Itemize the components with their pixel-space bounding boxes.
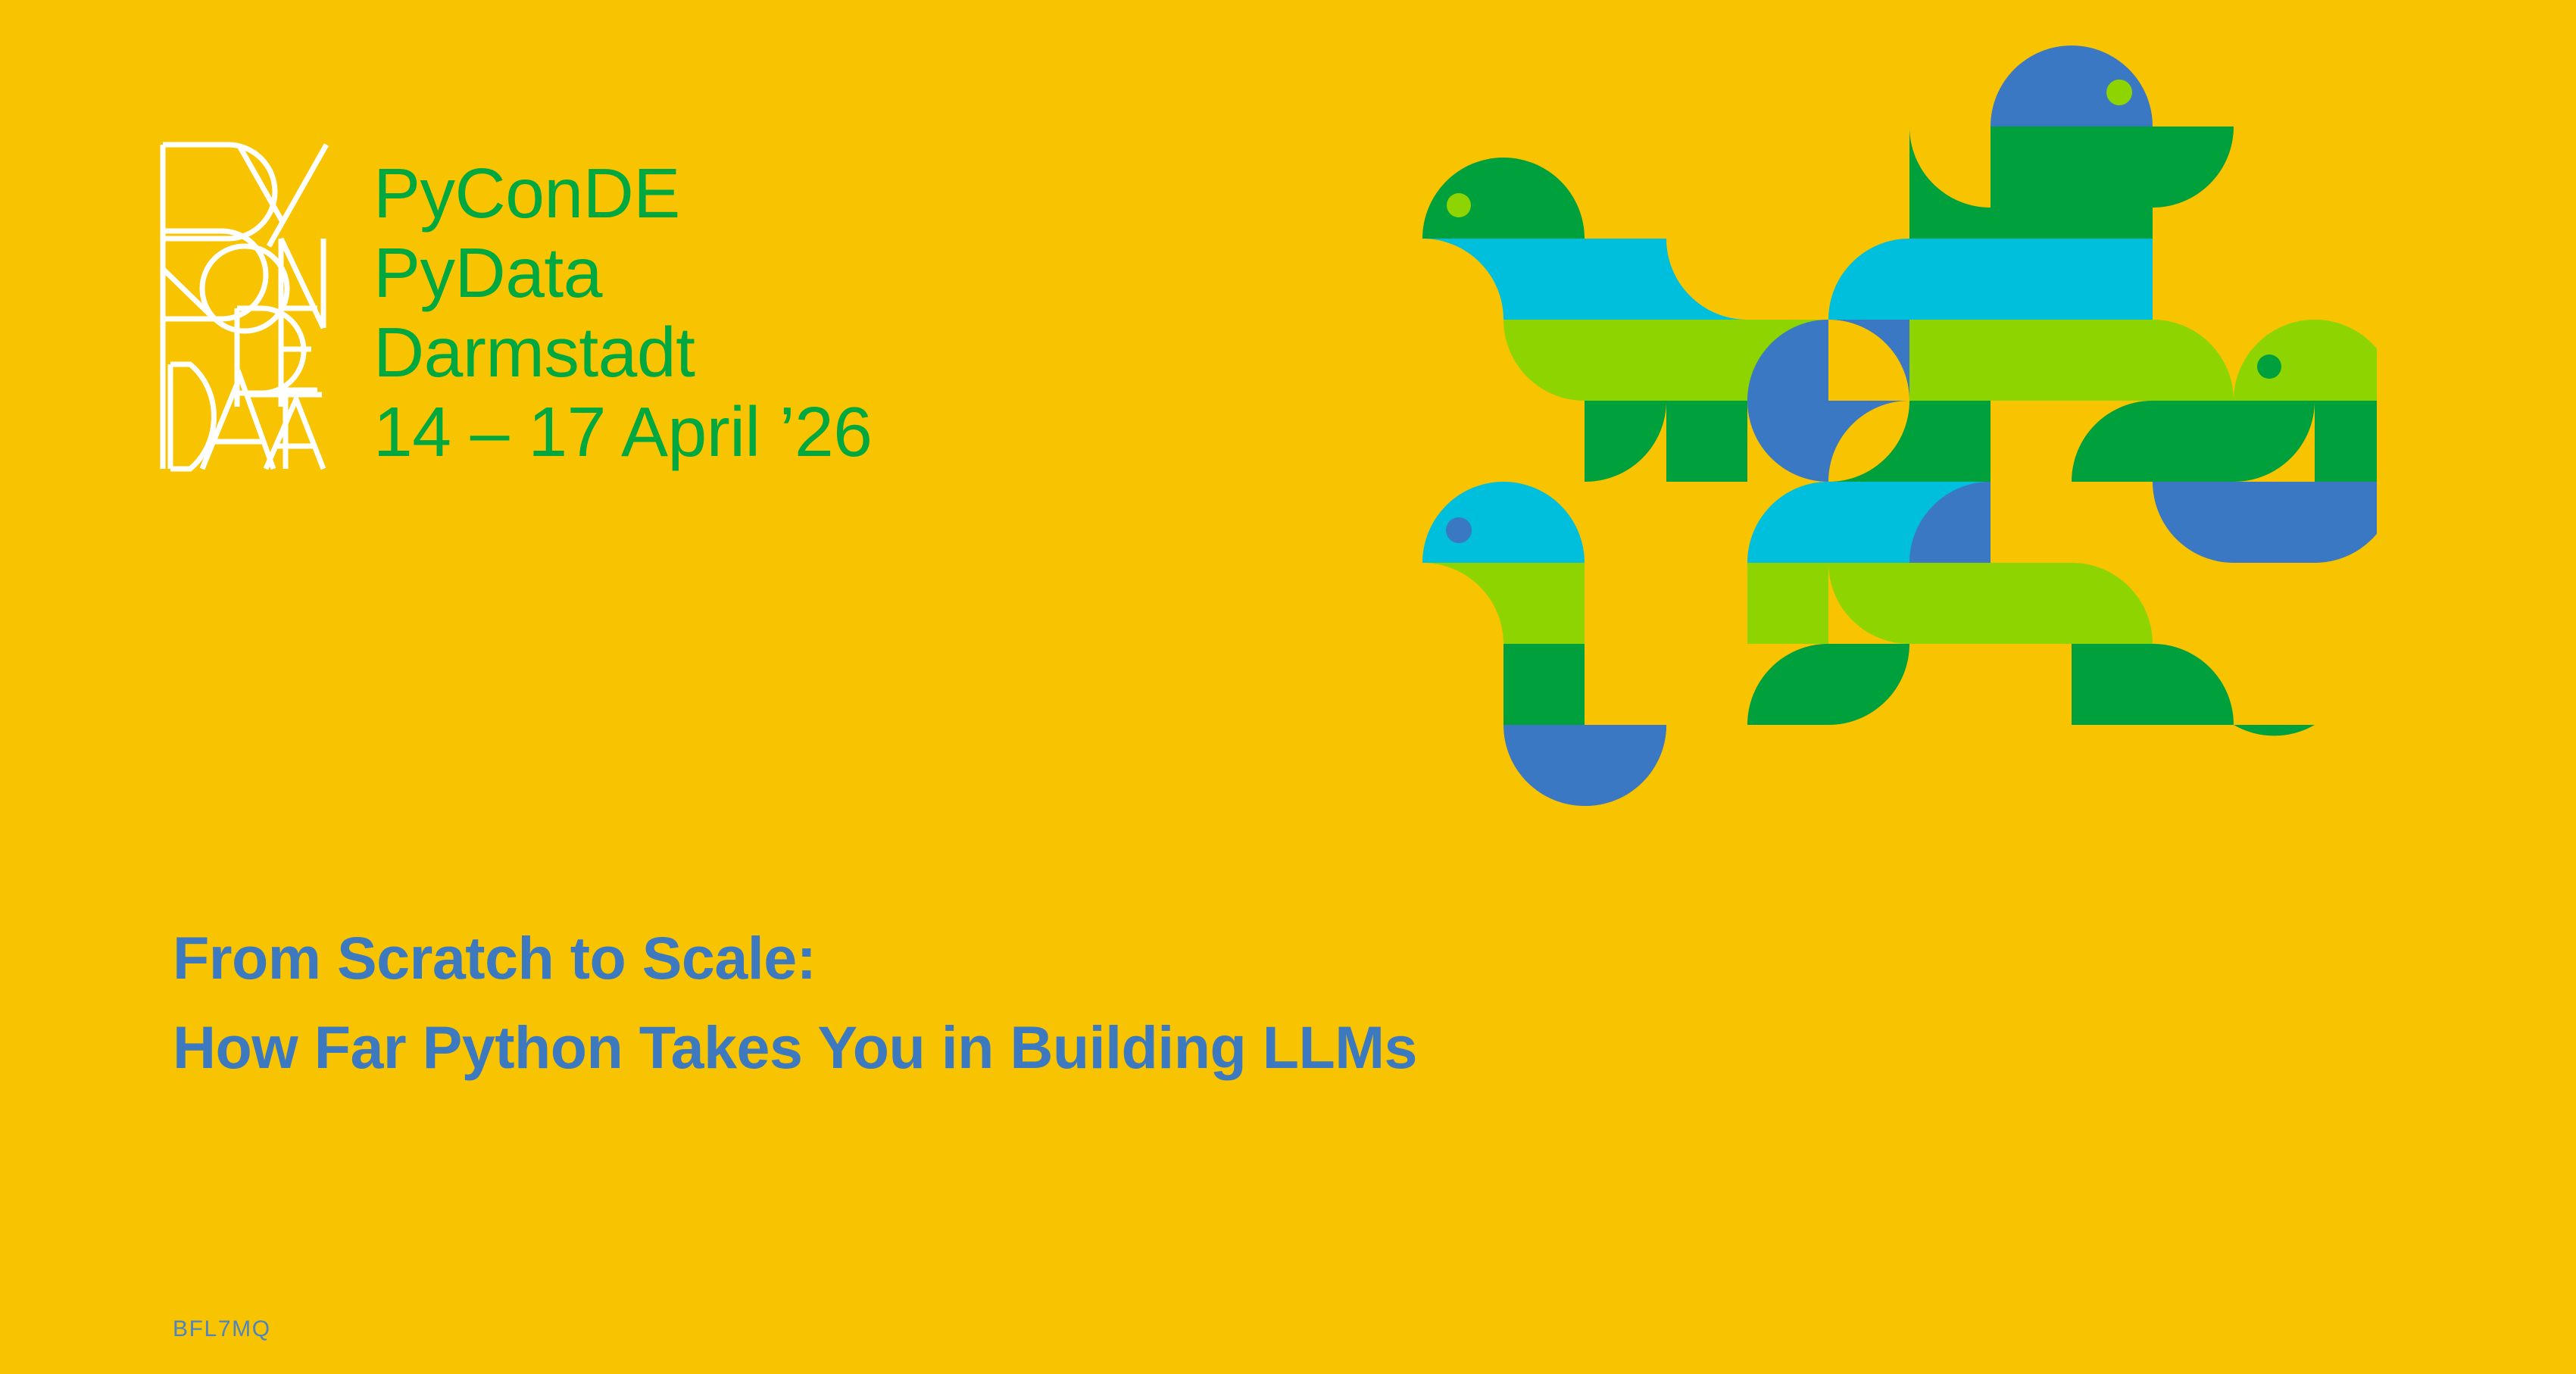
event-wordmark: PyConDE PyData Darmstadt 14 – 17 April ’… xyxy=(373,154,872,472)
bird-pattern-icon xyxy=(1422,45,2377,810)
wordmark-line-pyconde: PyConDE xyxy=(373,154,872,233)
submission-code: BFL7MQ xyxy=(173,1316,271,1342)
pyconde-pydata-logo-icon xyxy=(155,140,331,473)
talk-title-line-1: From Scratch to Scale: xyxy=(173,913,2142,1003)
bird-pattern-artwork xyxy=(1422,45,2377,810)
talk-title: From Scratch to Scale: How Far Python Ta… xyxy=(173,913,2142,1092)
wordmark-line-city: Darmstadt xyxy=(373,313,872,392)
brand-block: PyConDE PyData Darmstadt 14 – 17 April ’… xyxy=(155,140,872,473)
slide-root: PyConDE PyData Darmstadt 14 – 17 April ’… xyxy=(0,0,2576,1374)
talk-title-line-2: How Far Python Takes You in Building LLM… xyxy=(173,1003,2142,1092)
wordmark-line-pydata: PyData xyxy=(373,233,872,313)
wordmark-line-dates: 14 – 17 April ’26 xyxy=(373,392,872,472)
